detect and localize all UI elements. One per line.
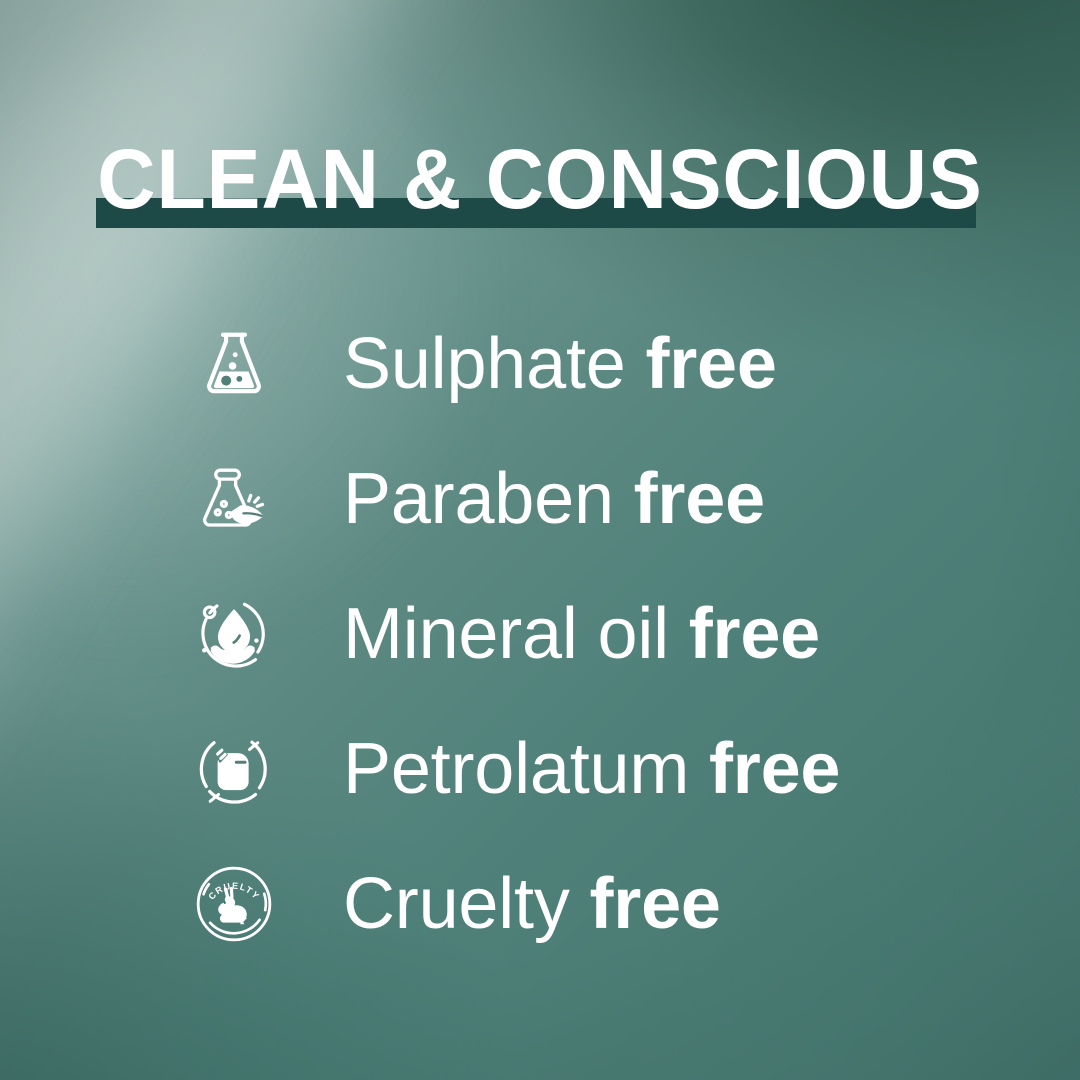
list-item: Paraben free xyxy=(0,431,1080,566)
claim-label: Petrolatum free xyxy=(343,727,840,811)
svg-text:CRUELTY: CRUELTY xyxy=(206,880,261,901)
clean-conscious-poster: CLEAN & CONSCIOUS xyxy=(0,0,1080,1080)
claim-label: Paraben free xyxy=(343,457,765,541)
cruelty-free-rabbit-badge-icon: CRUELTY FREE xyxy=(192,862,276,946)
claim-label: Cruelty free xyxy=(343,862,721,946)
flask-leaf-icon xyxy=(192,457,276,541)
claim-qualifier: free xyxy=(709,729,840,809)
flask-bubbles-icon xyxy=(192,322,276,406)
claim-qualifier: free xyxy=(634,459,765,539)
list-item: Petrolatum free xyxy=(0,701,1080,836)
list-item: Sulphate free xyxy=(0,296,1080,431)
page-title: CLEAN & CONSCIOUS xyxy=(0,131,1080,241)
claim-qualifier: free xyxy=(645,324,776,404)
poster-content: CLEAN & CONSCIOUS xyxy=(0,0,1080,1080)
water-droplet-circle-icon xyxy=(192,592,276,676)
list-item: CRUELTY FREE xyxy=(0,836,1080,971)
claim-name: Cruelty xyxy=(343,864,570,944)
claim-label: Mineral oil free xyxy=(343,592,820,676)
title-text: CLEAN & CONSCIOUS xyxy=(22,131,1059,227)
list-item: Mineral oil free xyxy=(0,566,1080,701)
claim-name: Mineral oil xyxy=(343,594,669,674)
claim-name: Paraben xyxy=(343,459,614,539)
claim-qualifier: free xyxy=(689,594,820,674)
claim-qualifier: free xyxy=(589,864,720,944)
oil-can-no-circle-icon xyxy=(192,727,276,811)
claim-label: Sulphate free xyxy=(343,322,777,406)
claims-list: Sulphate free xyxy=(0,296,1080,971)
claim-name: Petrolatum xyxy=(343,729,689,809)
claim-name: Sulphate xyxy=(343,324,626,404)
